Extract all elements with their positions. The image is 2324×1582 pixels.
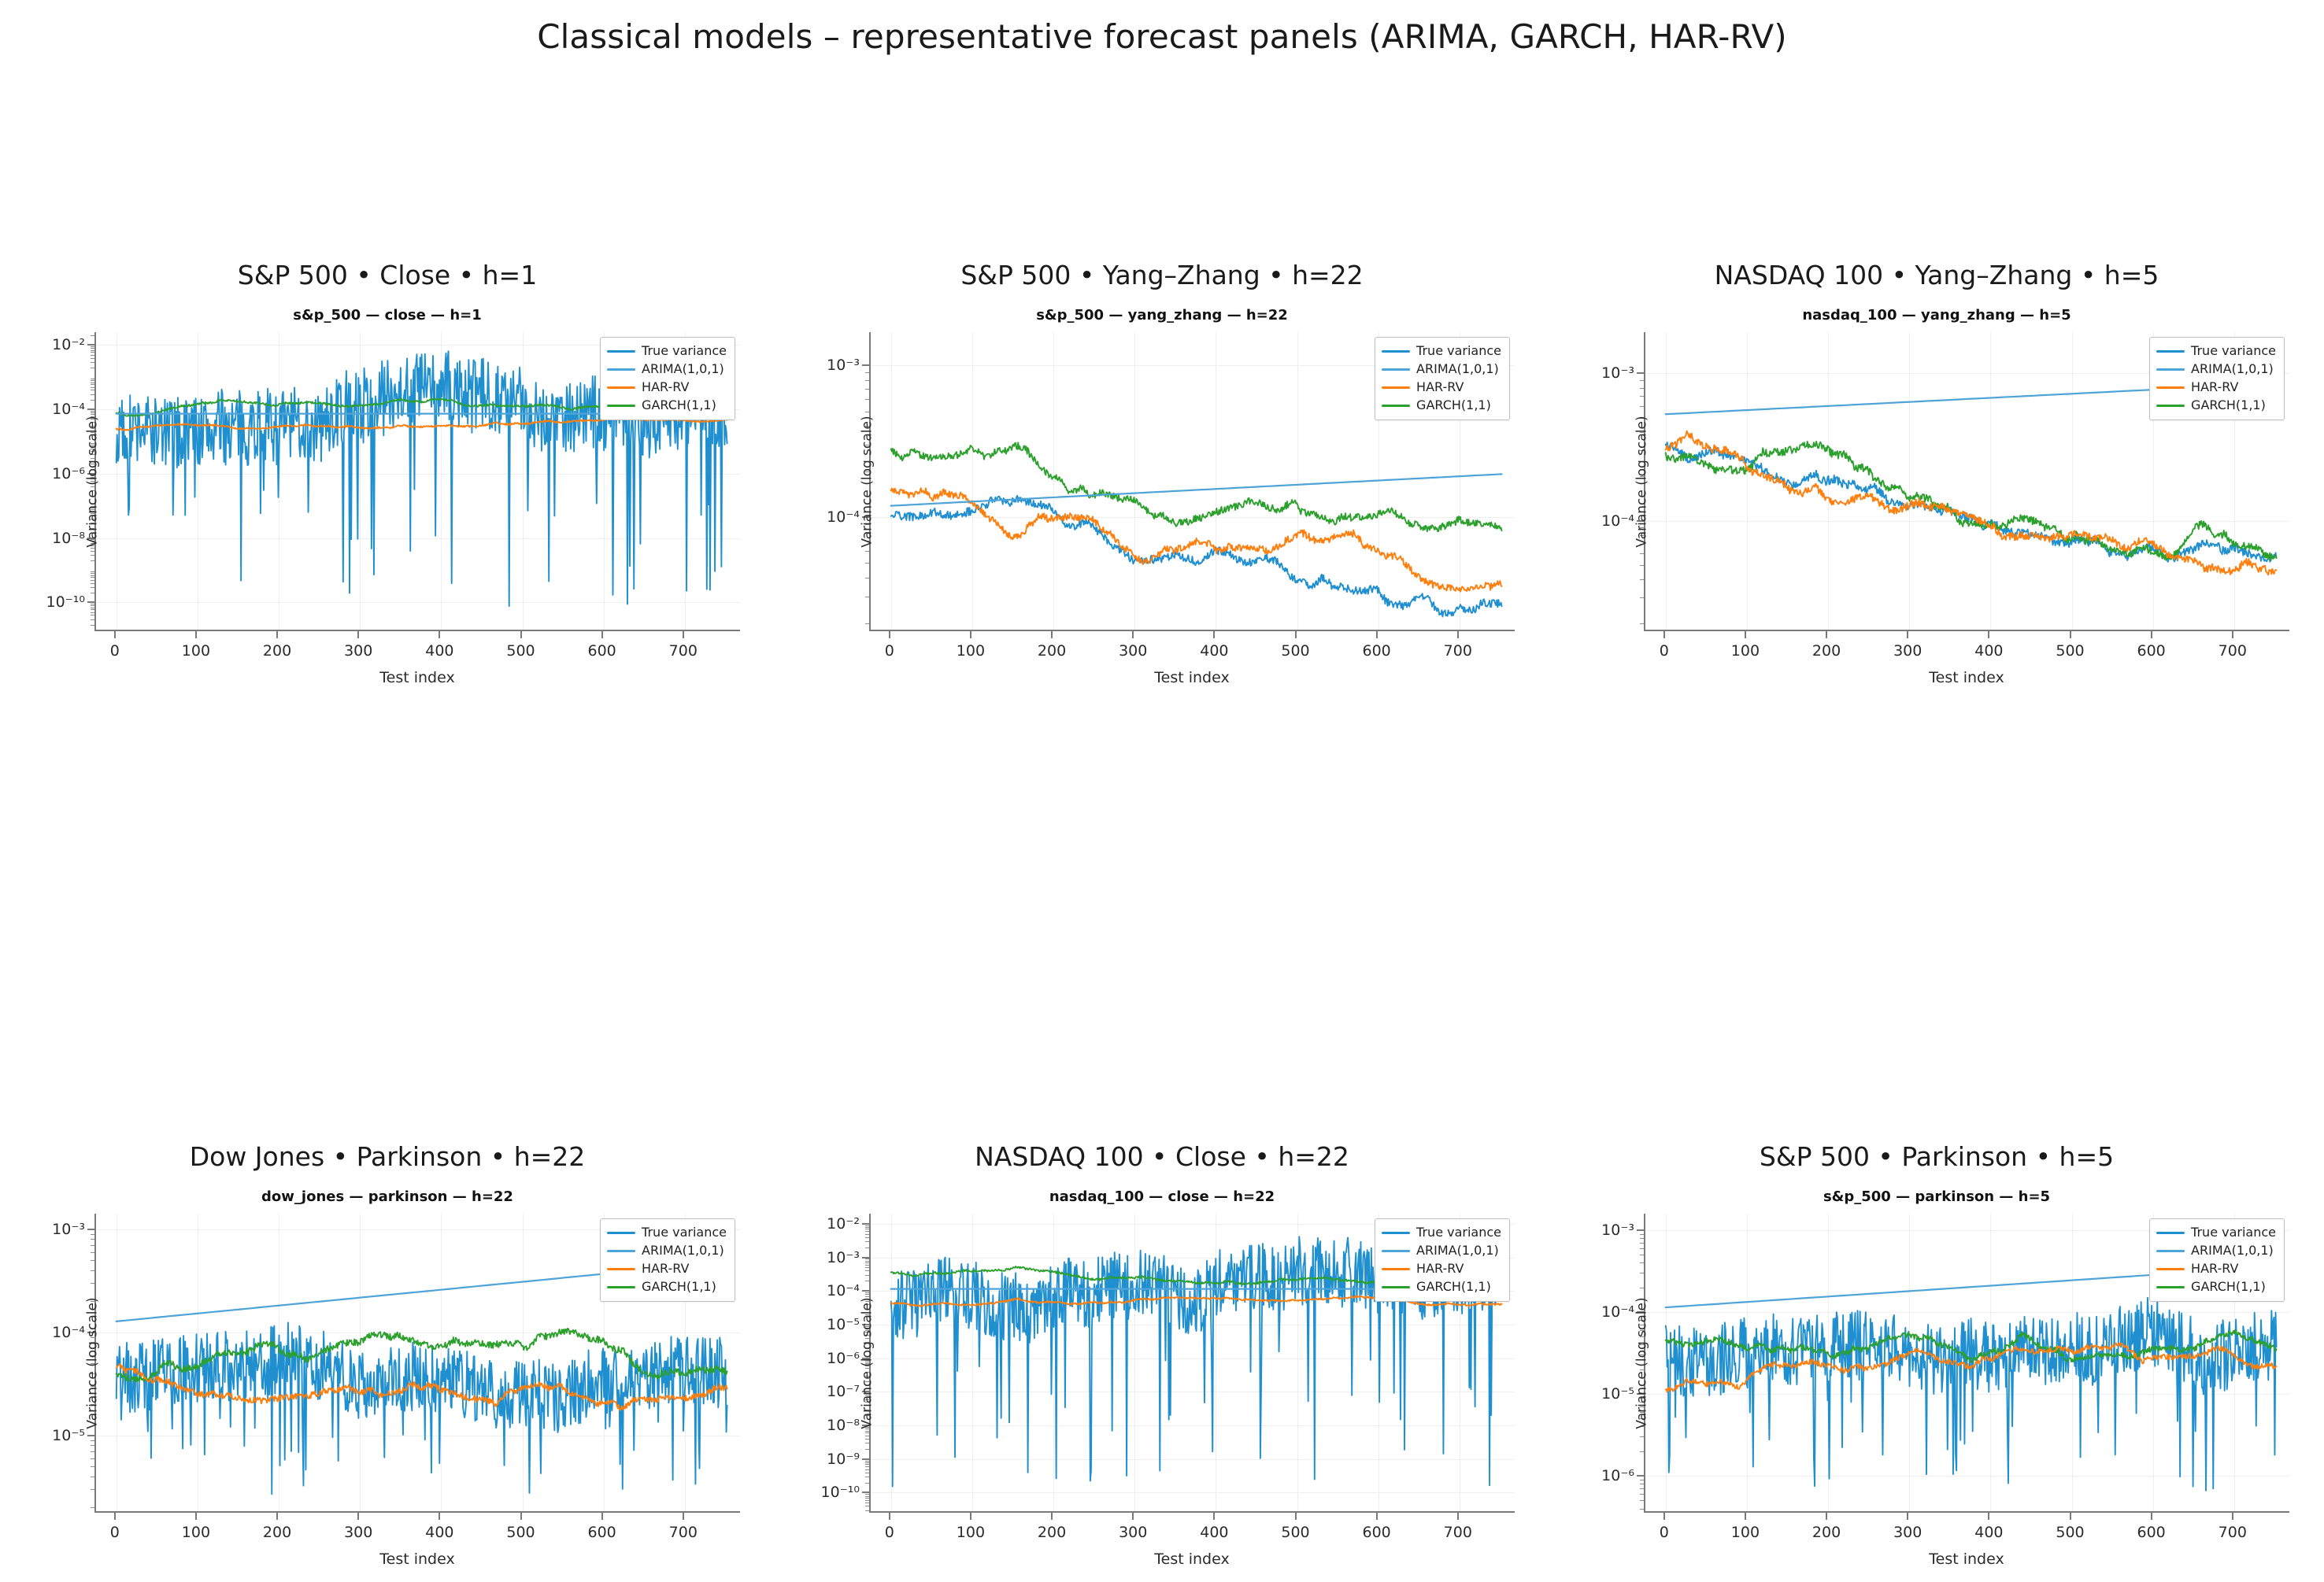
legend-item[interactable]: GARCH(1,1)	[607, 1279, 727, 1295]
y-axis-minor-tick	[1640, 396, 1644, 397]
y-axis-tick-mark	[87, 408, 94, 410]
y-axis-minor-tick	[91, 619, 94, 620]
x-axis-tick-label: 700	[2219, 642, 2247, 660]
x-axis-tick-label: 300	[344, 1524, 372, 1541]
legend-item[interactable]: GARCH(1,1)	[2156, 397, 2276, 413]
x-axis-tick-label: 100	[182, 1524, 210, 1541]
y-axis-minor-tick	[865, 1462, 869, 1463]
x-axis-tick-mark	[2151, 631, 2152, 638]
y-axis-minor-tick	[1640, 388, 1644, 389]
y-axis-minor-tick	[91, 411, 94, 412]
y-axis-tick-label: 10⁻¹⁰	[46, 593, 85, 611]
x-axis-tick-label: 400	[1974, 1524, 2003, 1541]
legend-item[interactable]: True variance	[607, 1225, 727, 1240]
y-axis-minor-tick	[1640, 1288, 1644, 1288]
legend-label: ARIMA(1,0,1)	[1416, 1244, 1499, 1257]
axes-title: s&p_500 — yang_zhang — h=22	[775, 307, 1549, 323]
x-axis-tick-label: 400	[1200, 642, 1228, 660]
x-axis-tick-mark	[1132, 631, 1134, 638]
y-axis-minor-tick	[91, 612, 94, 613]
y-axis-minor-tick	[1640, 579, 1644, 580]
x-axis-tick-label: 600	[1363, 1524, 1391, 1541]
series-line-garch-1-1	[891, 442, 1502, 531]
legend-swatch-icon	[607, 1268, 635, 1270]
y-axis-tick-label: 10⁻⁵	[1601, 1385, 1634, 1403]
legend-swatch-icon	[2156, 1250, 2185, 1252]
y-axis-minor-tick	[865, 1469, 869, 1470]
x-axis-tick-label: 600	[588, 642, 616, 660]
legend-item[interactable]: HAR-RV	[1382, 379, 1501, 395]
y-axis-minor-tick	[91, 379, 94, 379]
x-axis-tick-label: 200	[1812, 1524, 1841, 1541]
y-axis-minor-tick	[91, 580, 94, 581]
x-axis-tick-label: 100	[957, 642, 985, 660]
x-axis-tick-mark	[520, 631, 522, 638]
legend-label: ARIMA(1,0,1)	[2191, 1244, 2274, 1257]
panel-title: Dow Jones • Parkinson • h=22	[0, 1141, 775, 1172]
legend-swatch-icon	[2156, 350, 2185, 353]
legend-label: True variance	[642, 345, 727, 357]
legend-swatch-icon	[607, 350, 635, 353]
legend-swatch-icon	[1382, 405, 1410, 407]
legend[interactable]: True varianceARIMA(1,0,1)HAR-RVGARCH(1,1…	[1375, 1218, 1510, 1302]
series-line-garch-1-1	[1666, 442, 2277, 561]
y-axis-tick-label: 10⁻⁸	[827, 1417, 860, 1434]
x-axis-tick-mark	[1663, 631, 1665, 638]
y-axis-minor-tick	[91, 394, 94, 395]
panel-2: S&P 500 • Yang–Zhang • h=22s&p_500 — yan…	[775, 260, 1549, 700]
x-axis-tick-mark	[1457, 631, 1459, 638]
x-axis-tick-mark	[195, 1513, 197, 1520]
panel-grid: S&P 500 • Close • h=1s&p_500 — close — h…	[0, 260, 2324, 1582]
x-axis-tick-mark	[889, 631, 890, 638]
x-axis-tick-mark	[1826, 631, 1827, 638]
x-axis-tick-label: 300	[1119, 642, 1147, 660]
legend-swatch-icon	[1382, 1268, 1410, 1270]
y-axis-tick-mark	[862, 1458, 869, 1460]
legend-swatch-icon	[607, 405, 635, 407]
panel-6: S&P 500 • Parkinson • h=5s&p_500 — parki…	[1549, 1141, 2324, 1582]
axes: 10⁻³10⁻⁴10⁻⁵10⁻⁶0100200300400500600700Te…	[1644, 1214, 2289, 1513]
x-axis-tick-label: 600	[588, 1524, 616, 1541]
y-axis-label: Variance (log scale)	[860, 1297, 875, 1429]
legend-swatch-icon	[1382, 350, 1410, 353]
y-axis-tick-mark	[87, 601, 94, 603]
legend-swatch-icon	[2156, 1232, 2185, 1234]
y-axis-minor-tick	[91, 346, 94, 347]
legend-label: GARCH(1,1)	[642, 399, 716, 412]
legend[interactable]: True varianceARIMA(1,0,1)HAR-RVGARCH(1,1…	[2149, 337, 2285, 420]
y-axis-minor-tick	[91, 1234, 94, 1235]
x-axis-label: Test index	[94, 1551, 740, 1568]
y-axis-minor-tick	[865, 1443, 869, 1443]
y-axis-minor-tick	[865, 1234, 869, 1235]
y-axis-minor-tick	[91, 390, 94, 390]
legend-label: True variance	[1416, 345, 1501, 357]
y-axis-minor-tick	[865, 1464, 869, 1465]
y-axis-minor-tick	[91, 1260, 94, 1261]
y-axis-minor-tick	[1640, 597, 1644, 598]
x-axis-tick-label: 400	[1974, 642, 2003, 660]
x-axis-tick-mark	[439, 631, 440, 638]
legend-item[interactable]: True variance	[2156, 1225, 2276, 1240]
y-axis-minor-tick	[91, 625, 94, 626]
legend-swatch-icon	[1382, 1286, 1410, 1288]
panel-title: S&P 500 • Parkinson • h=5	[1549, 1141, 2324, 1172]
x-axis-tick-mark	[1376, 631, 1378, 638]
legend-label: ARIMA(1,0,1)	[1416, 363, 1499, 375]
y-axis-minor-tick	[91, 400, 94, 401]
y-axis-minor-tick	[91, 560, 94, 561]
y-axis-minor-tick	[91, 573, 94, 574]
x-axis-tick-mark	[1907, 1513, 1908, 1520]
x-axis-label: Test index	[869, 669, 1515, 686]
axes: 10⁻²10⁻³10⁻⁴10⁻⁵10⁻⁶10⁻⁷10⁻⁸10⁻⁹10⁻¹⁰010…	[869, 1214, 1515, 1513]
legend-item[interactable]: ARIMA(1,0,1)	[2156, 361, 2276, 377]
legend-item[interactable]: GARCH(1,1)	[1382, 1279, 1501, 1295]
y-axis-minor-tick	[91, 1507, 94, 1508]
x-axis-tick-label: 100	[957, 1524, 985, 1541]
y-axis-minor-tick	[865, 1432, 869, 1433]
y-axis-minor-tick	[91, 348, 94, 349]
x-axis-tick-mark	[276, 631, 278, 638]
legend-label: HAR-RV	[2191, 381, 2238, 394]
legend-label: GARCH(1,1)	[2191, 1281, 2266, 1293]
axes-title: s&p_500 — parkinson — h=5	[1549, 1188, 2324, 1205]
y-axis-minor-tick	[91, 414, 94, 415]
legend-label: GARCH(1,1)	[2191, 399, 2266, 412]
y-axis-minor-tick	[865, 623, 869, 624]
y-axis-minor-tick	[1640, 553, 1644, 554]
y-axis-minor-tick	[1640, 406, 1644, 407]
y-axis-minor-tick	[91, 555, 94, 556]
legend-item[interactable]: ARIMA(1,0,1)	[1382, 1243, 1501, 1259]
x-axis-tick-mark	[1132, 1513, 1134, 1520]
y-axis-minor-tick	[865, 1449, 869, 1450]
axes: 10⁻³10⁻⁴0100200300400500600700Test index…	[869, 332, 1515, 631]
x-axis-tick-mark	[1907, 631, 1908, 638]
y-axis-minor-tick	[91, 1451, 94, 1452]
y-axis-minor-tick	[91, 548, 94, 549]
y-axis-minor-tick	[865, 372, 869, 373]
y-axis-tick-label: 10⁻³	[52, 1221, 85, 1238]
y-axis-minor-tick	[91, 577, 94, 578]
legend-swatch-icon	[1382, 368, 1410, 371]
x-axis-tick-mark	[1295, 1513, 1297, 1520]
legend-item[interactable]: HAR-RV	[2156, 379, 2276, 395]
y-axis-tick-label: 10⁻⁶	[52, 465, 85, 482]
panel-4: Dow Jones • Parkinson • h=22dow_jones — …	[0, 1141, 775, 1582]
y-axis-tick-mark	[1637, 372, 1644, 374]
x-axis-tick-mark	[276, 1513, 278, 1520]
x-axis-tick-label: 100	[1731, 1524, 1760, 1541]
x-axis-tick-mark	[889, 1513, 890, 1520]
axes-title: nasdaq_100 — close — h=22	[775, 1188, 1549, 1205]
y-axis-minor-tick	[1640, 623, 1644, 624]
legend-label: HAR-RV	[642, 1262, 689, 1275]
x-axis-tick-label: 600	[1363, 642, 1391, 660]
y-axis-minor-tick	[865, 1510, 869, 1511]
x-axis-tick-label: 300	[1893, 1524, 1922, 1541]
y-axis-minor-tick	[865, 551, 869, 552]
x-axis-tick-mark	[683, 1513, 684, 1520]
x-axis-tick-label: 200	[1038, 1524, 1066, 1541]
y-axis-minor-tick	[865, 1466, 869, 1467]
y-axis-minor-tick	[91, 551, 94, 552]
y-axis-minor-tick	[91, 593, 94, 593]
legend-label: GARCH(1,1)	[1416, 399, 1491, 412]
y-axis-minor-tick	[1640, 1436, 1644, 1437]
legend-label: HAR-RV	[1416, 381, 1464, 394]
x-axis-tick-label: 200	[1038, 642, 1066, 660]
y-axis-tick-label: 10⁻⁴	[827, 508, 860, 526]
legend-item[interactable]: ARIMA(1,0,1)	[607, 361, 727, 377]
x-axis-tick-mark	[1213, 1513, 1215, 1520]
x-axis-tick-label: 500	[2056, 642, 2084, 660]
y-axis-minor-tick	[865, 1503, 869, 1503]
y-axis-minor-tick	[865, 1473, 869, 1473]
y-axis-tick-mark	[862, 364, 869, 366]
legend-swatch-icon	[2156, 1268, 2185, 1270]
y-axis-tick-label: 10⁻⁸	[52, 530, 85, 547]
legend-item[interactable]: ARIMA(1,0,1)	[607, 1243, 727, 1259]
x-axis-tick-label: 700	[1444, 1524, 1472, 1541]
x-axis-tick-mark	[1051, 631, 1053, 638]
x-axis-tick-mark	[2232, 631, 2233, 638]
legend-item[interactable]: HAR-RV	[607, 1261, 727, 1277]
x-axis-tick-label: 700	[669, 642, 698, 660]
y-axis-minor-tick	[1640, 1243, 1644, 1244]
y-axis-minor-tick	[91, 1252, 94, 1253]
legend-swatch-icon	[607, 1286, 635, 1288]
y-axis-minor-tick	[865, 1241, 869, 1242]
legend-swatch-icon	[1382, 386, 1410, 389]
figure-suptitle: Classical models – representative foreca…	[0, 17, 2324, 56]
legend-swatch-icon	[2156, 405, 2185, 407]
legend-item[interactable]: True variance	[607, 343, 727, 359]
axes-title: nasdaq_100 — yang_zhang — h=5	[1549, 307, 2324, 323]
y-axis-minor-tick	[91, 1466, 94, 1467]
y-axis-tick-mark	[862, 1223, 869, 1225]
x-axis-tick-label: 700	[669, 1524, 698, 1541]
x-axis-tick-label: 400	[425, 642, 453, 660]
x-axis-tick-mark	[1213, 631, 1215, 638]
y-axis-minor-tick	[865, 563, 869, 564]
y-axis-minor-tick	[1640, 1248, 1644, 1249]
x-axis-tick-label: 400	[425, 1524, 453, 1541]
legend-item[interactable]: ARIMA(1,0,1)	[2156, 1243, 2276, 1259]
y-axis-minor-tick	[865, 1494, 869, 1495]
x-axis-tick-label: 600	[2137, 1524, 2166, 1541]
legend-label: GARCH(1,1)	[1416, 1281, 1491, 1293]
y-axis-minor-tick	[865, 1247, 869, 1248]
y-axis-minor-tick	[91, 412, 94, 413]
x-axis-label: Test index	[1644, 669, 2289, 686]
y-axis-minor-tick	[865, 1267, 869, 1268]
y-axis-minor-tick	[91, 609, 94, 610]
x-axis-tick-label: 200	[1812, 642, 1841, 660]
x-axis-tick-label: 0	[885, 1524, 894, 1541]
y-axis-minor-tick	[91, 380, 94, 381]
y-axis-tick-mark	[87, 344, 94, 346]
x-axis-tick-mark	[1376, 1513, 1378, 1520]
y-axis-tick-mark	[87, 1435, 94, 1436]
legend-item[interactable]: True variance	[2156, 343, 2276, 359]
y-axis-tick-mark	[1637, 1475, 1644, 1477]
legend-swatch-icon	[607, 1250, 635, 1252]
legend-item[interactable]: HAR-RV	[607, 379, 727, 395]
x-axis-tick-label: 500	[506, 642, 535, 660]
axes: 10⁻³10⁻⁴10⁻⁵0100200300400500600700Test i…	[94, 1214, 740, 1513]
x-axis-tick-mark	[357, 1513, 359, 1520]
axes: 10⁻³10⁻⁴0100200300400500600700Test index…	[1644, 332, 2289, 631]
y-axis-minor-tick	[1640, 1494, 1644, 1495]
y-axis-tick-label: 10⁻⁶	[827, 1350, 860, 1367]
y-axis-minor-tick	[91, 384, 94, 385]
y-axis-tick-label: 10⁻¹⁰	[821, 1484, 860, 1501]
y-axis-minor-tick	[91, 1440, 94, 1441]
y-axis-minor-tick	[865, 1262, 869, 1263]
legend[interactable]: True varianceARIMA(1,0,1)HAR-RVGARCH(1,1…	[2149, 1218, 2285, 1302]
legend-label: True variance	[2191, 1226, 2276, 1239]
y-axis-tick-label: 10⁻⁴	[52, 1324, 85, 1341]
y-axis-minor-tick	[91, 355, 94, 356]
y-axis-minor-tick	[865, 1500, 869, 1501]
y-axis-minor-tick	[1640, 1255, 1644, 1255]
y-axis-label: Variance (log scale)	[1634, 1297, 1650, 1429]
y-axis-minor-tick	[865, 578, 869, 578]
legend-swatch-icon	[1382, 1232, 1410, 1234]
y-axis-minor-tick	[865, 1506, 869, 1506]
y-axis-minor-tick	[865, 597, 869, 597]
legend-label: GARCH(1,1)	[642, 1281, 716, 1293]
y-axis-tick-label: 10⁻²	[827, 1215, 860, 1233]
y-axis-tick-label: 10⁻⁴	[52, 401, 85, 418]
x-axis-tick-mark	[683, 631, 684, 638]
y-axis-minor-tick	[865, 412, 869, 412]
legend-label: ARIMA(1,0,1)	[2191, 363, 2274, 375]
legend-item[interactable]: GARCH(1,1)	[607, 397, 727, 413]
y-axis-label: Variance (log scale)	[85, 416, 101, 547]
y-axis-minor-tick	[91, 335, 94, 336]
legend-item[interactable]: True variance	[1382, 343, 1501, 359]
legend-item[interactable]: GARCH(1,1)	[1382, 397, 1501, 413]
x-axis-tick-mark	[1988, 1513, 1989, 1520]
x-axis-tick-label: 300	[1893, 642, 1922, 660]
y-axis-minor-tick	[865, 1431, 869, 1432]
x-axis-tick-mark	[970, 631, 971, 638]
legend-swatch-icon	[607, 386, 635, 389]
legend-item[interactable]: HAR-RV	[2156, 1261, 2276, 1277]
y-axis-minor-tick	[91, 605, 94, 606]
legend-item[interactable]: True variance	[1382, 1225, 1501, 1240]
y-axis-minor-tick	[1640, 565, 1644, 566]
legend-label: True variance	[1416, 1226, 1501, 1239]
y-axis-minor-tick	[91, 1239, 94, 1240]
x-axis-tick-label: 300	[344, 642, 372, 660]
legend-label: HAR-RV	[1416, 1262, 1464, 1275]
y-axis-minor-tick	[865, 399, 869, 400]
y-axis-minor-tick	[865, 1461, 869, 1462]
y-axis-tick-label: 10⁻⁶	[1601, 1467, 1634, 1484]
x-axis-tick-label: 200	[263, 642, 291, 660]
y-axis-tick-mark	[87, 1229, 94, 1230]
y-axis-minor-tick	[1640, 1484, 1644, 1484]
x-axis-tick-label: 100	[1731, 642, 1760, 660]
y-axis-minor-tick	[91, 387, 94, 388]
x-axis-tick-mark	[1663, 1513, 1665, 1520]
y-axis-tick-label: 10⁻⁵	[827, 1316, 860, 1333]
y-axis-tick-label: 10⁻³	[1601, 1222, 1634, 1239]
panel-title: NASDAQ 100 • Close • h=22	[775, 1141, 1549, 1172]
panel-row-bottom: Dow Jones • Parkinson • h=22dow_jones — …	[0, 1141, 2324, 1582]
x-axis-tick-label: 700	[2219, 1524, 2247, 1541]
y-axis-minor-tick	[91, 575, 94, 576]
legend-label: ARIMA(1,0,1)	[642, 363, 724, 375]
y-axis-minor-tick	[91, 350, 94, 351]
series-line-true-variance	[1666, 1298, 2277, 1491]
panel-3: NASDAQ 100 • Yang–Zhang • h=5nasdaq_100 …	[1549, 260, 2324, 700]
x-axis-tick-mark	[357, 631, 359, 638]
x-axis-tick-label: 0	[110, 1524, 120, 1541]
y-axis-minor-tick	[1640, 1238, 1644, 1239]
legend[interactable]: True varianceARIMA(1,0,1)HAR-RVGARCH(1,1…	[1375, 337, 1510, 420]
legend-swatch-icon	[607, 1232, 635, 1234]
y-axis-minor-tick	[865, 1270, 869, 1271]
x-axis-tick-mark	[2070, 1513, 2071, 1520]
y-axis-minor-tick	[1640, 1262, 1644, 1263]
x-axis-tick-mark	[1745, 631, 1746, 638]
y-axis-minor-tick	[1640, 1480, 1644, 1480]
y-axis-minor-tick	[91, 1477, 94, 1477]
x-axis-tick-mark	[2232, 1513, 2233, 1520]
y-axis-minor-tick	[91, 1245, 94, 1246]
y-axis-minor-tick	[91, 1270, 94, 1271]
y-axis-minor-tick	[91, 1283, 94, 1284]
legend[interactable]: True varianceARIMA(1,0,1)HAR-RVGARCH(1,1…	[600, 337, 735, 420]
legend-item[interactable]: HAR-RV	[1382, 1261, 1501, 1277]
y-axis-minor-tick	[865, 1498, 869, 1499]
x-axis-tick-label: 0	[110, 642, 120, 660]
y-axis-tick-mark	[1637, 1229, 1644, 1231]
y-axis-minor-tick	[91, 608, 94, 608]
axes-title: dow_jones — parkinson — h=22	[0, 1188, 775, 1205]
x-axis-tick-mark	[114, 1513, 116, 1520]
legend-swatch-icon	[2156, 368, 2185, 371]
panel-title: S&P 500 • Yang–Zhang • h=22	[775, 260, 1549, 290]
y-axis-minor-tick	[865, 1227, 869, 1228]
y-axis-minor-tick	[1640, 1234, 1644, 1235]
y-axis-minor-tick	[865, 1259, 869, 1259]
y-axis-minor-tick	[1640, 1509, 1644, 1510]
legend[interactable]: True varianceARIMA(1,0,1)HAR-RVGARCH(1,1…	[600, 1218, 735, 1302]
y-axis-minor-tick	[865, 1275, 869, 1276]
y-axis-tick-label: 10⁻⁷	[827, 1383, 860, 1400]
legend-item[interactable]: GARCH(1,1)	[2156, 1279, 2276, 1295]
x-axis-tick-label: 500	[2056, 1524, 2084, 1541]
legend-label: True variance	[2191, 345, 2276, 357]
y-axis-minor-tick	[865, 1229, 869, 1229]
legend-item[interactable]: ARIMA(1,0,1)	[1382, 361, 1501, 377]
y-axis-tick-label: 10⁻⁴	[827, 1282, 860, 1299]
y-axis-minor-tick	[865, 1477, 869, 1477]
legend-swatch-icon	[2156, 386, 2185, 389]
legend-swatch-icon	[1382, 1250, 1410, 1252]
x-axis-tick-mark	[439, 1513, 440, 1520]
series-line-arima-1-0-1	[891, 474, 1502, 505]
y-axis-tick-label: 10⁻⁴	[1601, 1303, 1634, 1321]
x-axis-label: Test index	[94, 669, 740, 686]
